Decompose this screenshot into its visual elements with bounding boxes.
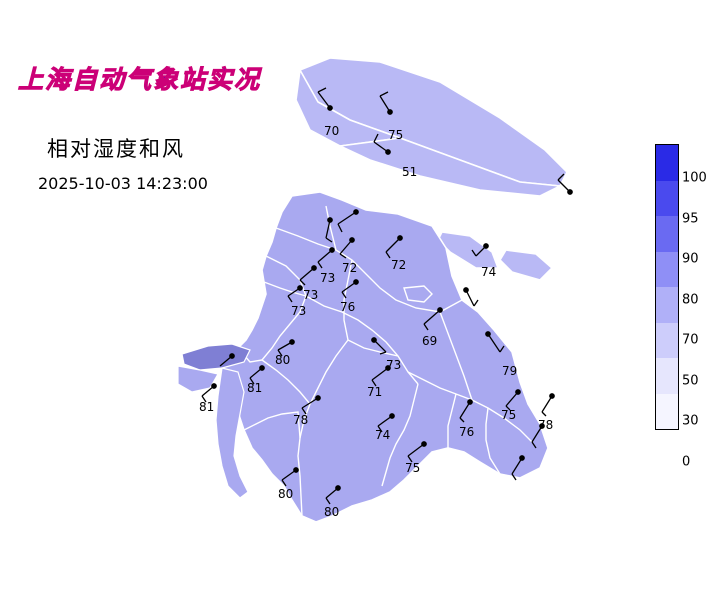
legend-label: 95: [682, 211, 699, 226]
legend-label: 30: [682, 414, 699, 429]
station-value: 75: [388, 128, 403, 142]
station-value: 76: [459, 425, 474, 439]
station-value: 76: [340, 300, 355, 314]
mainland-shanghai: [222, 192, 548, 522]
station-value: 51: [402, 165, 417, 179]
station-value: 73: [386, 358, 401, 372]
legend-colorbar: [655, 144, 679, 430]
legend-label: 90: [682, 252, 699, 267]
legend-label: 0: [682, 455, 690, 470]
station-value: 81: [247, 381, 262, 395]
station-value: 74: [481, 265, 496, 279]
legend-label: 80: [682, 292, 699, 307]
station-value: 74: [375, 428, 390, 442]
legend-band-0: [656, 145, 678, 181]
map-subtitle: 相对湿度和风: [47, 133, 185, 163]
station-value: 73: [303, 288, 318, 302]
station-value: 75: [405, 461, 420, 475]
station-value: 71: [367, 385, 382, 399]
observation-timestamp: 2025-10-03 14:23:00: [38, 174, 208, 193]
legend-label: 100: [682, 171, 707, 186]
station-value: 72: [391, 258, 406, 272]
legend-band-7: [656, 394, 678, 430]
station-value: 73: [320, 271, 335, 285]
station-value: 73: [291, 304, 306, 318]
station-value: 81: [199, 400, 214, 414]
station-value: 78: [538, 418, 553, 432]
station-value: 80: [324, 505, 339, 519]
map-canvas: 上海自动气象站实况 相对湿度和风 2025-10-03 14:23:00 100…: [0, 0, 728, 610]
legend-band-3: [656, 252, 678, 288]
station-value: 79: [502, 364, 517, 378]
legend-band-4: [656, 287, 678, 323]
station-value: 78: [293, 413, 308, 427]
station-value: 80: [278, 487, 293, 501]
legend-label: 50: [682, 373, 699, 388]
station-value: 75: [501, 408, 516, 422]
station-value: 70: [324, 124, 339, 138]
legend-band-6: [656, 358, 678, 394]
page-title-logo: 上海自动气象站实况: [18, 60, 261, 96]
station-value: 80: [275, 353, 290, 367]
legend-label: 70: [682, 333, 699, 348]
legend-band-1: [656, 181, 678, 217]
station-value: 69: [422, 334, 437, 348]
legend-band-5: [656, 323, 678, 359]
station-value: 72: [342, 261, 357, 275]
legend-band-2: [656, 216, 678, 252]
